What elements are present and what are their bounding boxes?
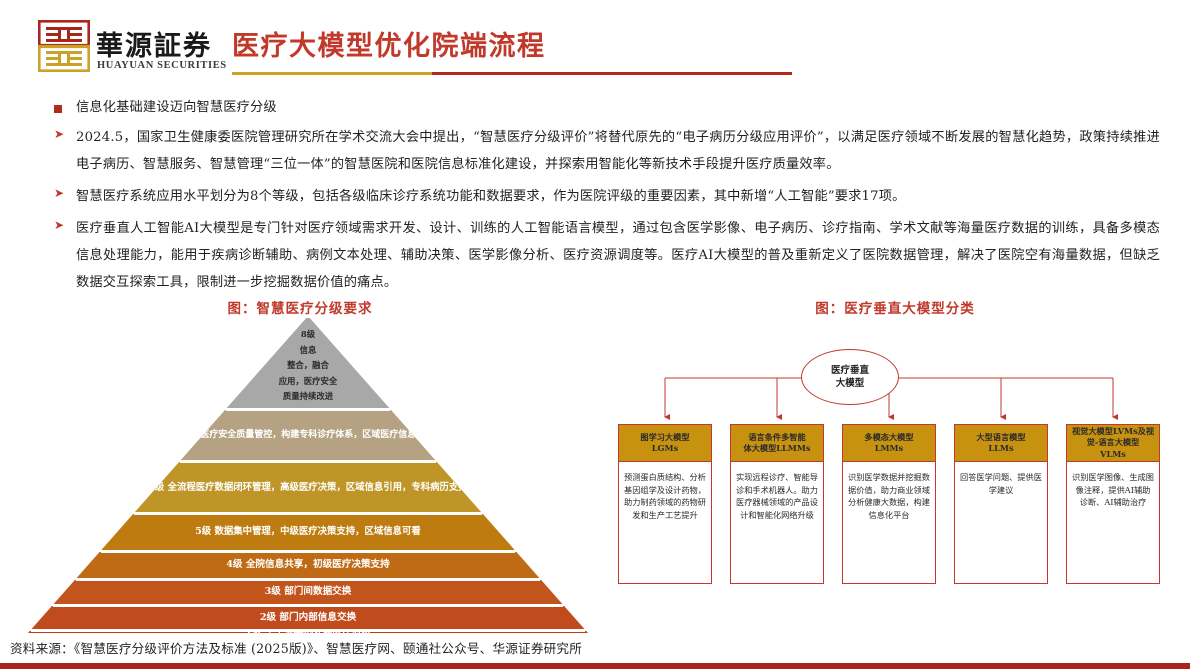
huayuan-logo-icon [38, 20, 90, 72]
title-underline-red [432, 72, 792, 75]
model-category-description: 识别医学图像、生成图像注释，提供AI辅助诊断、AI辅助治疗 [1067, 471, 1159, 509]
model-category-title: 图学习大模型LGMs [637, 432, 692, 455]
model-category-description: 识别医学数据并挖掘数据价值，助力商业领域分析健康大数据，构建信息化平台 [843, 471, 935, 521]
left-figure-caption: 图：智慧医疗分级要求 [0, 297, 600, 317]
model-category-body: 识别医学数据并挖掘数据价值，助力商业领域分析健康大数据，构建信息化平台 [843, 462, 935, 584]
bullet-text: 医疗垂直人工智能AI大模型是专门针对医疗领域需求开发、设计、训练的人工智能语言模… [76, 215, 1160, 296]
square-bullet-icon [54, 98, 62, 119]
pyramid-level-3: 3级 部门间数据交换 [28, 580, 588, 604]
page-title: 医疗大模型优化院端流程 [232, 24, 546, 63]
model-category-card-1[interactable]: 图学习大模型LGMs预测蛋白质结构、分析基因组学及设计药物，助力制药领域的药物研… [618, 424, 712, 584]
title-underline [232, 72, 792, 75]
model-category-title: 语言条件多智能体大模型LLMMs [741, 432, 814, 455]
pyramid-divider [226, 409, 389, 411]
model-category-description: 回答医学问题、提供医学建议 [955, 471, 1047, 496]
model-category-body: 识别医学图像、生成图像注释，提供AI辅助诊断、AI辅助治疗 [1067, 462, 1159, 584]
body-bullets: 信息化基础建设迈向智慧医疗分级 ➤ 2024.5，国家卫生健康委医院管理研究所在… [40, 97, 1160, 301]
bullet-text: 2024.5，国家卫生健康委医院管理研究所在学术交流大会中提出，“智慧医疗分级评… [76, 124, 1160, 178]
tree-root-node: 医疗垂直 大模型 [801, 349, 899, 405]
company-logo: 華源証券 HUAYUAN SECURITIES [38, 20, 220, 80]
model-category-card-4[interactable]: 大型语言模型LLMs回答医学问题、提供医学建议 [954, 424, 1048, 584]
model-category-card-2[interactable]: 语言条件多智能体大模型LLMMs实现远程诊疗、智能导诊和手术机器人。助力医疗器械… [730, 424, 824, 584]
model-category-card-3[interactable]: 多模态大模型LMMs识别医学数据并挖掘数据价值，助力商业领域分析健康大数据，构建… [842, 424, 936, 584]
arrow-bullet-icon: ➤ [54, 215, 64, 236]
pyramid-divider [180, 461, 435, 463]
arrow-bullet-icon: ➤ [54, 124, 64, 145]
pyramid-level-label: 2级 部门内部信息交换 [254, 611, 362, 625]
pyramid-level-8: 8级信息整合，融合应用，医疗安全质量持续改进 [28, 318, 588, 408]
footer-bar [0, 663, 1190, 669]
logo-chinese-name: 華源証券 [96, 24, 212, 63]
right-figure-caption: 图：医疗垂直大模型分类 [600, 297, 1190, 317]
model-category-description: 实现远程诊疗、智能导诊和手术机器人。助力医疗器械领域的产品设计和智能化网络升级 [731, 471, 823, 521]
model-category-card-5[interactable]: 视觉大模型LVMs及视觉-语言大模型VLMs识别医学图像、生成图像注释，提供AI… [1066, 424, 1160, 584]
pyramid-divider [31, 630, 585, 632]
pyramid-divider [53, 605, 563, 607]
pyramid-divider [134, 513, 481, 515]
maturity-pyramid-chart: 8级信息整合，融合应用，医疗安全质量持续改进7级 医疗安全质量管控，构建专科诊疗… [28, 316, 588, 633]
pyramid-level-7: 7级 医疗安全质量管控，构建专科诊疗体系，区域医疗信息利用 [28, 410, 588, 460]
bullet-text: 信息化基础建设迈向智慧医疗分级 [76, 97, 1160, 119]
model-category-description: 预测蛋白质结构、分析基因组学及设计药物，助力制药领域的药物研发和生产工艺提升 [619, 471, 711, 521]
logo-english-name: HUAYUAN SECURITIES [97, 60, 227, 71]
pyramid-level-label: 7级 医疗安全质量管控，构建专科诊疗体系，区域医疗信息利用 [176, 428, 440, 443]
pyramid-level-5: 5级 数据集中管理，中级医疗决策支持，区域信息可看 [28, 514, 588, 550]
tree-root-label: 医疗垂直 大模型 [831, 364, 869, 390]
pyramid-divider [76, 579, 540, 581]
pyramid-level-label: 8级信息整合，融合应用，医疗安全质量持续改进 [273, 327, 344, 405]
model-category-body: 回答医学问题、提供医学建议 [955, 462, 1047, 584]
pyramid-level-label: 5级 数据集中管理，中级医疗决策支持，区域信息可看 [189, 525, 426, 539]
model-category-header: 多模态大模型LMMs [843, 425, 935, 462]
model-category-header: 图学习大模型LGMs [619, 425, 711, 462]
bullet-item: ➤ 医疗垂直人工智能AI大模型是专门针对医疗领域需求开发、设计、训练的人工智能语… [40, 215, 1160, 296]
model-category-body: 实现远程诊疗、智能导诊和手术机器人。助力医疗器械领域的产品设计和智能化网络升级 [731, 462, 823, 584]
pyramid-level-2: 2级 部门内部信息交换 [28, 606, 588, 629]
arrow-bullet-icon: ➤ [54, 183, 64, 204]
model-category-header: 视觉大模型LVMs及视觉-语言大模型VLMs [1067, 425, 1159, 462]
bullet-text: 智慧医疗系统应用水平划分为8个等级，包括各级临床诊疗系统功能和数据要求，作为医院… [76, 183, 1160, 210]
model-taxonomy-tree: 医疗垂直 大模型 图学习大模型LGMs预测蛋白质结构、分析基因组学及设计药物，助… [610, 316, 1180, 616]
bullet-item: ➤ 2024.5，国家卫生健康委医院管理研究所在学术交流大会中提出，“智慧医疗分… [40, 124, 1160, 178]
model-category-header: 语言条件多智能体大模型LLMMs [731, 425, 823, 462]
bullet-item: 信息化基础建设迈向智慧医疗分级 [40, 97, 1160, 119]
pyramid-level-6: 6级 全流程医疗数据闭环管理，高级医疗决策，区域信息引用，专科病历支持 [28, 462, 588, 512]
model-category-title: 视觉大模型LVMs及视觉-语言大模型VLMs [1067, 426, 1159, 461]
model-category-header: 大型语言模型LLMs [955, 425, 1047, 462]
tree-root-label-line1: 医疗垂直 [831, 365, 869, 376]
model-category-title: 大型语言模型LLMs [973, 432, 1028, 455]
model-category-title: 多模态大模型LMMs [861, 432, 916, 455]
pyramid-level-label: 3级 部门间数据交换 [259, 585, 358, 599]
source-note: 资料来源：《智慧医疗分级评价方法及标准 (2025版)》、智慧医疗网、颐通社公众… [10, 638, 582, 657]
pyramid-level-4: 4级 全院信息共享，初级医疗决策支持 [28, 552, 588, 578]
model-category-body: 预测蛋白质结构、分析基因组学及设计药物，助力制药领域的药物研发和生产工艺提升 [619, 462, 711, 584]
tree-root-label-line2: 大模型 [836, 378, 865, 389]
pyramid-level-label: 6级 全流程医疗数据闭环管理，高级医疗决策，区域信息引用，专科病历支持 [142, 480, 473, 495]
page-header: 華源証券 HUAYUAN SECURITIES 医疗大模型优化院端流程 [0, 0, 1190, 92]
pyramid-level-label: 4级 全院信息共享，初级医疗决策支持 [220, 558, 396, 572]
bullet-item: ➤ 智慧医疗系统应用水平划分为8个等级，包括各级临床诊疗系统功能和数据要求，作为… [40, 183, 1160, 210]
pyramid-divider [101, 551, 515, 553]
title-underline-gold [232, 72, 432, 75]
